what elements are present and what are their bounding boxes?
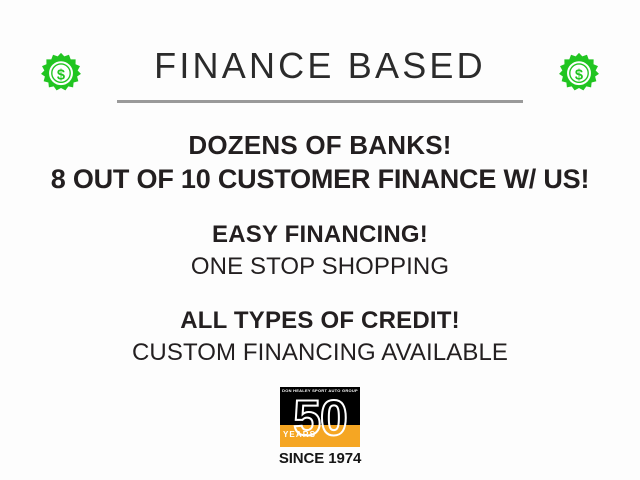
headline-all-types-of-credit: ALL TYPES OF CREDIT! (0, 307, 640, 335)
subline-one-stop-shopping: ONE STOP SHOPPING (0, 253, 640, 281)
anniversary-badge: DON HEALEY SPORT AUTO GROUP 50 YEARS (280, 387, 360, 447)
gear-dollar-icon: $ (38, 52, 84, 98)
headline-dozens-of-banks: DOZENS OF BANKS! (0, 130, 640, 160)
header: $ FINANCE BASED $ (0, 44, 640, 106)
logo-since-text: SINCE 1974 (279, 451, 361, 466)
body-copy: DOZENS OF BANKS! 8 OUT OF 10 CUSTOMER FI… (0, 130, 640, 367)
gear-dollar-icon: $ (556, 52, 602, 98)
subline-custom-financing-available: CUSTOM FINANCING AVAILABLE (0, 339, 640, 367)
svg-text:$: $ (575, 68, 583, 84)
badge-years-label: YEARS (283, 431, 316, 439)
copy-block-all-credit: ALL TYPES OF CREDIT! CUSTOM FINANCING AV… (0, 307, 640, 367)
headline-easy-financing: EASY FINANCING! (0, 221, 640, 249)
title-group: FINANCE BASED (116, 48, 524, 103)
subline-customer-finance: 8 OUT OF 10 CUSTOMER FINANCE W/ US! (0, 164, 640, 195)
badge-brand-name: DON HEALEY SPORT AUTO GROUP (280, 389, 360, 393)
copy-block-banks: DOZENS OF BANKS! 8 OUT OF 10 CUSTOMER FI… (0, 130, 640, 195)
copy-block-easy-financing: EASY FINANCING! ONE STOP SHOPPING (0, 221, 640, 281)
finance-based-slide: $ FINANCE BASED $ DOZENS OF BANKS! 8 OUT… (0, 0, 640, 480)
svg-text:$: $ (57, 68, 65, 84)
title-divider (117, 100, 523, 103)
dealer-logo: DON HEALEY SPORT AUTO GROUP 50 YEARS SIN… (280, 387, 360, 466)
page-title: FINANCE BASED (154, 48, 486, 86)
